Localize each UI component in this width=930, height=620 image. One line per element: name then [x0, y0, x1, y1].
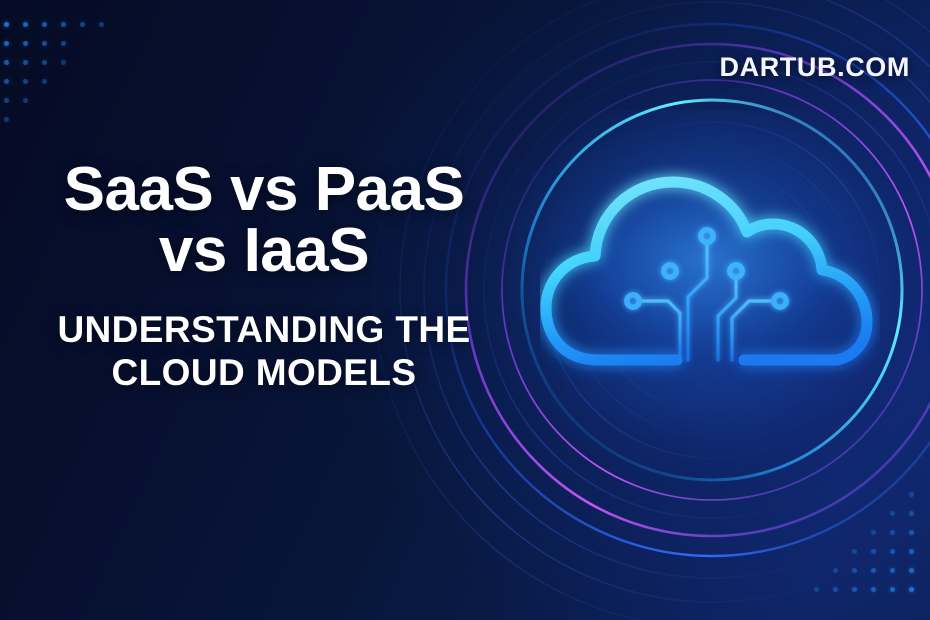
grid-dot: [4, 60, 9, 65]
grid-dot: [852, 587, 857, 592]
grid-dot: [833, 568, 838, 573]
grid-dot: [909, 568, 914, 573]
grid-dot: [42, 60, 47, 65]
grid-dot: [909, 530, 914, 535]
grid-dot: [909, 511, 914, 516]
grid-dot: [833, 587, 838, 592]
grid-dot: [909, 492, 914, 497]
grid-dot: [42, 41, 47, 46]
cloud-circuit-svg: [540, 150, 880, 410]
grid-dot: [909, 587, 914, 592]
grid-dot: [23, 60, 28, 65]
page-subtitle: UNDERSTANDING THE CLOUD MODELS: [8, 308, 520, 395]
grid-dot: [61, 41, 66, 46]
title-line-2: vs IaaS: [8, 221, 520, 282]
grid-dot: [4, 79, 9, 84]
grid-dot: [890, 511, 895, 516]
grid-dot: [80, 22, 85, 27]
cloud-circuit-icon: [540, 150, 880, 410]
poster-canvas: SaaS vs PaaS vs IaaS UNDERSTANDING THE C…: [0, 0, 930, 620]
grid-dot: [23, 98, 28, 103]
grid-dot: [890, 549, 895, 554]
grid-dot: [871, 568, 876, 573]
grid-dot: [890, 568, 895, 573]
title-line-1: SaaS vs PaaS: [8, 160, 520, 221]
grid-dot: [42, 79, 47, 84]
dot-grid-bottom-right: [814, 492, 924, 602]
dot-grid-top-left: [4, 22, 114, 132]
page-title: SaaS vs PaaS vs IaaS: [8, 160, 520, 282]
grid-dot: [852, 549, 857, 554]
grid-dot: [42, 22, 47, 27]
circuit-trace-tails: [670, 358, 732, 408]
grid-dot: [61, 22, 66, 27]
grid-dot: [871, 530, 876, 535]
grid-dot: [23, 41, 28, 46]
grid-dot: [890, 530, 895, 535]
grid-dot: [909, 549, 914, 554]
grid-dot: [4, 41, 9, 46]
grid-dot: [99, 22, 104, 27]
headline-block: SaaS vs PaaS vs IaaS UNDERSTANDING THE C…: [8, 160, 520, 394]
subtitle-line-2: CLOUD MODELS: [8, 351, 520, 394]
subtitle-line-1: UNDERSTANDING THE: [8, 308, 520, 351]
grid-dot: [871, 549, 876, 554]
grid-dot: [890, 587, 895, 592]
grid-dot: [4, 98, 9, 103]
grid-dot: [23, 79, 28, 84]
grid-dot: [871, 587, 876, 592]
grid-dot: [4, 117, 9, 122]
site-watermark: DARTUB.COM: [720, 52, 910, 83]
grid-dot: [814, 587, 819, 592]
grid-dot: [852, 568, 857, 573]
grid-dot: [4, 22, 9, 27]
grid-dot: [61, 60, 66, 65]
grid-dot: [23, 22, 28, 27]
